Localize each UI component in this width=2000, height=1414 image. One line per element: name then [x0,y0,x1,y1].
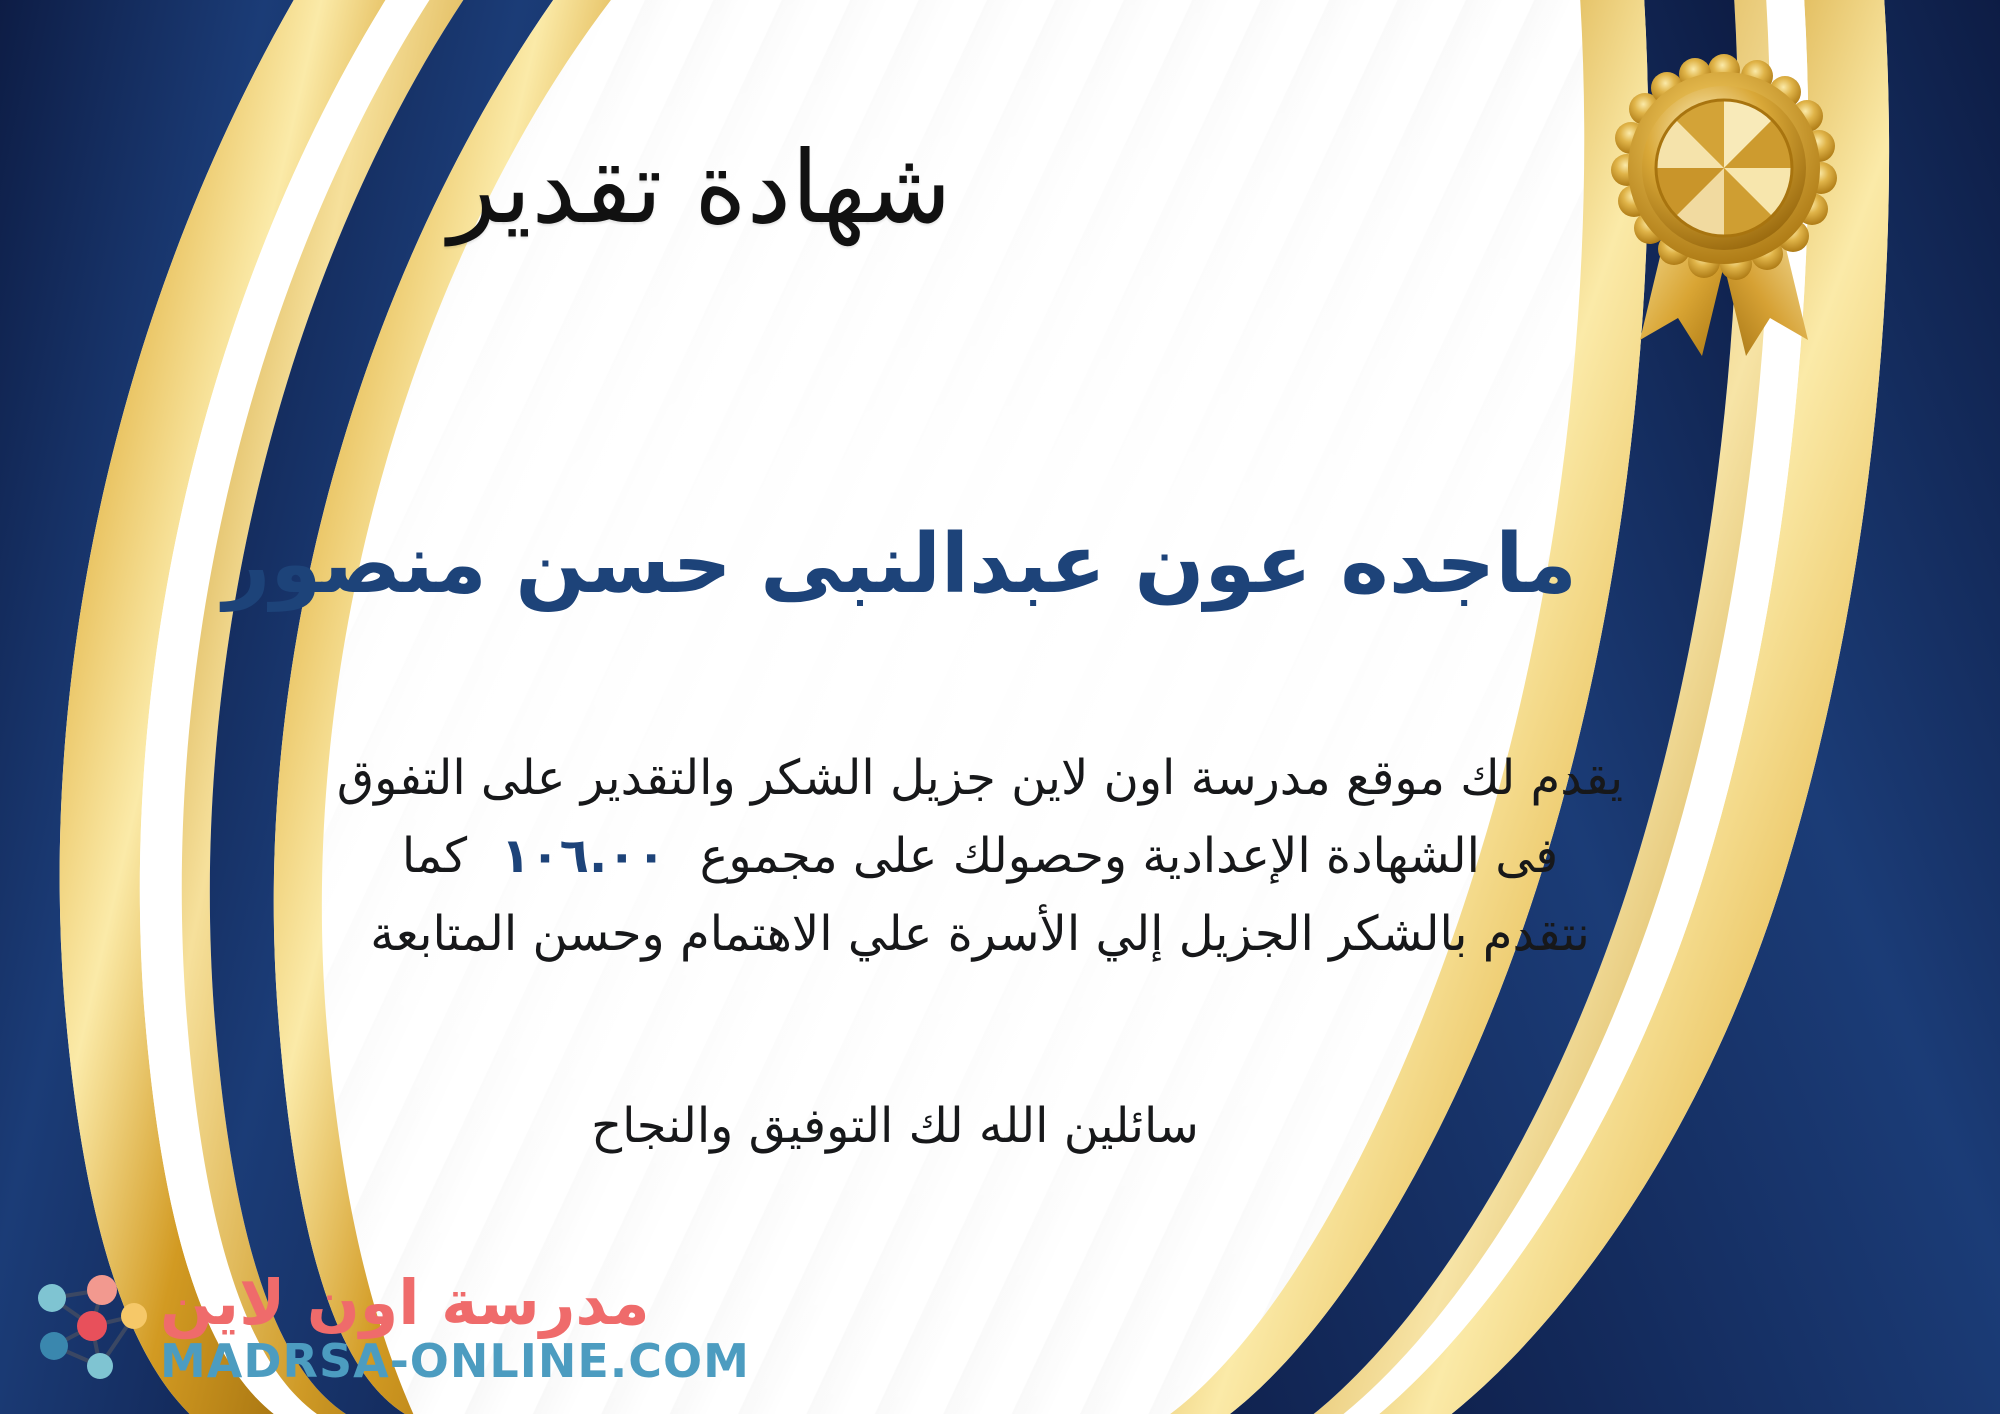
grade-value: ١٠٦.٠٠ [467,828,700,884]
certificate-body: يقدم لك موقع مدرسة اون لاين جزيل الشكر و… [40,740,1920,973]
body-line-2: فى الشهادة الإعدادية وحصولك على مجموع١٠٦… [40,818,1920,896]
brand-arabic-name: مدرسة اون لاين [160,1272,650,1334]
brand-logo[interactable]: مدرسة اون لاين MADRSA-ONLINE.COM [30,1268,750,1388]
body-line-3: نتقدم بالشكر الجزيل إلي الأسرة علي الاهت… [40,896,1920,974]
brand-text: مدرسة اون لاين MADRSA-ONLINE.COM [160,1272,750,1384]
body-line-1: يقدم لك موقع مدرسة اون لاين جزيل الشكر و… [40,740,1920,818]
network-nodes-icon [30,1268,150,1388]
certificate-title: شهادة تقدير [0,135,1400,240]
recipient-name: ماجده عون عبدالنبى حسن منصور [0,520,1800,610]
certificate-page: شهادة تقدير ماجده عون عبدالنبى حسن منصور… [0,0,2000,1414]
brand-website: MADRSA-ONLINE.COM [160,1338,750,1384]
body-line-2-suffix: كما [402,828,467,884]
body-line-2-text: فى الشهادة الإعدادية وحصولك على مجموع [700,828,1558,884]
certificate-content: شهادة تقدير ماجده عون عبدالنبى حسن منصور… [0,0,2000,1414]
closing-line: سائلين الله لك التوفيق والنجاح [0,1090,1790,1162]
